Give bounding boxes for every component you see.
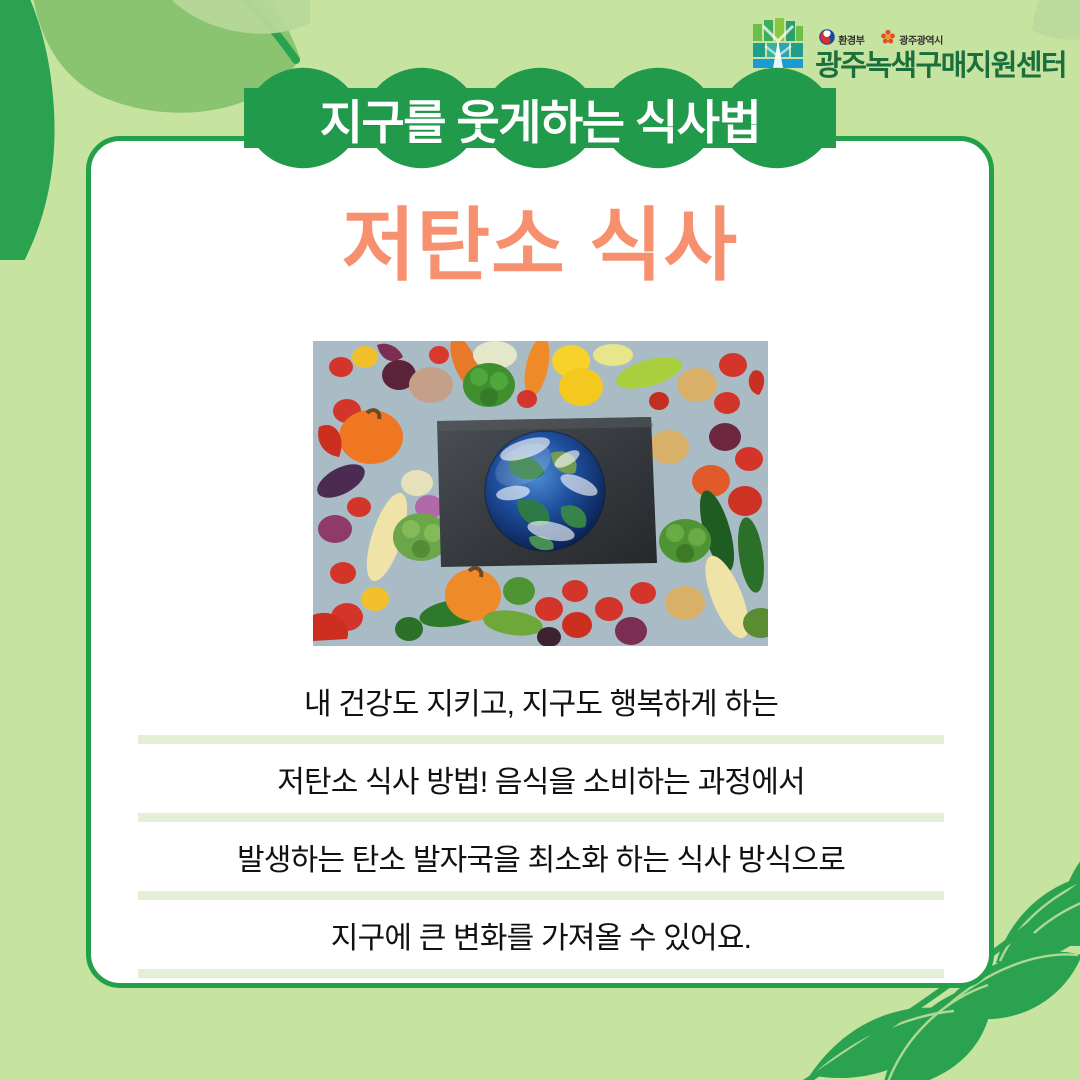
partner-label-gwangju: 광주광역시 [899,32,943,47]
banner-title-text: 지구를 웃게하는 식사법 [244,58,836,178]
title-banner: 지구를 웃게하는 식사법 [244,58,836,178]
body-line-row: 내 건강도 지키고, 지구도 행복하게 하는 [138,666,944,735]
ministry-of-environment-emblem-icon [819,29,835,50]
page-title: 저탄소 식사 [0,206,1080,286]
body-text-block: 내 건강도 지키고, 지구도 행복하게 하는 저탄소 식사 방법! 음식을 소비… [138,666,944,978]
body-line-row: 지구에 큰 변화를 가져올 수 있어요. [138,900,944,969]
divider-line [138,735,944,744]
body-line-row: 발생하는 탄소 발자국을 최소화 하는 식사 방식으로 [138,822,944,891]
body-line-row: 저탄소 식사 방법! 음식을 소비하는 과정에서 [138,744,944,813]
center-name-title: 광주녹색구매지원센터 [815,51,1066,81]
header-text-block: 환경부 [815,29,1066,81]
gwangju-city-emblem-icon [880,29,896,50]
divider-line [138,813,944,822]
body-line: 저탄소 식사 방법! 음식을 소비하는 과정에서 [138,744,944,813]
partner-ministry-of-environment: 환경부 [819,29,864,50]
divider-line [138,891,944,900]
body-line: 발생하는 탄소 발자국을 최소화 하는 식사 방식으로 [138,822,944,891]
body-line: 내 건강도 지키고, 지구도 행복하게 하는 [138,666,944,735]
partner-label-ministry: 환경부 [838,32,864,47]
partner-emblem-row: 환경부 [815,29,943,50]
body-line: 지구에 큰 변화를 가져올 수 있어요. [138,900,944,969]
partner-gwangju-city: 광주광역시 [880,29,943,50]
poster-canvas: GREEN 환경부 [0,0,1080,1080]
divider-line [138,969,944,978]
hero-photo-earth-on-slate-with-vegetables [313,341,768,646]
